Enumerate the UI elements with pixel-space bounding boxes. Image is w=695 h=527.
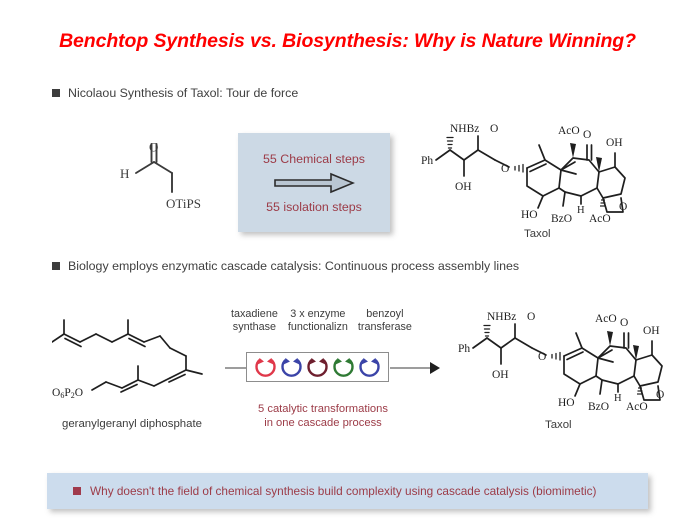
right-arrow-icon xyxy=(273,172,355,194)
atom-label-oh-sidechain: OH xyxy=(455,181,472,193)
glycolaldehyde-skeletal-diagram: H O OTiPS xyxy=(112,140,222,225)
cycle-arrow-1-icon xyxy=(253,355,278,379)
cycle-arrow-5-icon xyxy=(357,355,382,379)
cascade-caption-line-1: 5 catalytic transformations xyxy=(243,402,403,416)
atom-label-phosphate: O6P2O xyxy=(52,387,83,400)
atom-label-aco-top: AcO xyxy=(558,125,580,137)
atom-label-o-oxetane: O xyxy=(656,389,664,401)
bullet-nicolaou-synthesis: Nicolaou Synthesis of Taxol: Tour de for… xyxy=(52,86,298,100)
ggpp-skeletal-diagram: O6P2O xyxy=(52,312,232,417)
atom-label-o-ketone: O xyxy=(583,129,591,141)
square-bullet-icon xyxy=(52,89,60,97)
cascade-catalysis-box xyxy=(246,352,389,382)
atom-label-oh-sidechain: OH xyxy=(492,369,509,381)
structure-taxol-top: Ph NHBz O OH O AcO O OH HO BzO AcO H O xyxy=(403,112,628,232)
cycle-arrow-3-icon xyxy=(305,355,330,379)
atom-label-o: O xyxy=(149,140,158,155)
atom-label-h-stereo: H xyxy=(614,393,622,404)
atom-label-h-stereo: H xyxy=(577,205,585,216)
atom-label-ph: Ph xyxy=(421,155,433,167)
atom-label-nhbz: NHBz xyxy=(487,311,516,323)
structure-ggpp: O6P2O xyxy=(52,312,232,417)
square-bullet-icon xyxy=(73,487,81,495)
atom-label-o-ester: O xyxy=(527,311,535,323)
atom-label-bzo: BzO xyxy=(551,213,572,225)
atom-label-oh-top: OH xyxy=(643,325,660,337)
taxol-skeletal-diagram: Ph NHBz O OH O AcO O OH HO BzO AcO H O xyxy=(440,300,665,420)
ggpp-caption: geranylgeranyl diphosphate xyxy=(62,418,202,430)
atom-label-o-oxetane: O xyxy=(619,201,627,213)
atom-label-oh-top: OH xyxy=(606,137,623,149)
conclusion-text: Why doesn't the field of chemical synthe… xyxy=(90,484,596,498)
cycle-arrow-2-icon xyxy=(279,355,304,379)
atom-label-o-ketone: O xyxy=(620,317,628,329)
enzyme-label-benzoyl-transferase: benzoyl transferase xyxy=(358,308,412,333)
structure-starting-material: H O OTiPS xyxy=(112,140,222,225)
enzyme-label-taxadiene-synthase: taxadiene synthase xyxy=(231,308,278,333)
atom-label-o-link: O xyxy=(538,351,546,363)
square-bullet-icon xyxy=(52,262,60,270)
atom-label-aco-bottom: AcO xyxy=(589,213,611,225)
atom-label-bzo: BzO xyxy=(588,401,609,413)
enzyme-label-functionalization: 3 x enzyme functionalizn xyxy=(288,308,348,333)
chemical-steps-box: 55 Chemical steps 55 isolation steps xyxy=(238,133,390,232)
slide-canvas: Benchtop Synthesis vs. Biosynthesis: Why… xyxy=(0,0,695,527)
atom-label-aco-bottom: AcO xyxy=(626,401,648,413)
bullet-label: Biology employs enzymatic cascade cataly… xyxy=(68,259,519,273)
atom-label-ho: HO xyxy=(558,397,575,409)
atom-label-ho: HO xyxy=(521,209,538,221)
page-title: Benchtop Synthesis vs. Biosynthesis: Why… xyxy=(0,30,695,53)
atom-label-h: H xyxy=(120,166,129,181)
atom-label-o-link: O xyxy=(501,163,509,175)
structure-taxol-bottom: Ph NHBz O OH O AcO O OH HO BzO AcO H O xyxy=(440,300,665,420)
atom-label-otips: OTiPS xyxy=(166,196,201,211)
taxol-skeletal-diagram: Ph NHBz O OH O AcO O OH HO BzO AcO H O xyxy=(403,112,628,232)
chemical-steps-label: 55 Chemical steps xyxy=(263,152,365,166)
conclusion-banner: Why doesn't the field of chemical synthe… xyxy=(47,473,648,509)
taxol-caption-top: Taxol xyxy=(524,228,551,240)
cycle-arrow-4-icon xyxy=(331,355,356,379)
isolation-steps-label: 55 isolation steps xyxy=(266,200,362,214)
taxol-caption-bottom: Taxol xyxy=(545,419,572,431)
atom-label-ph: Ph xyxy=(458,343,470,355)
enzyme-label-group: taxadiene synthase 3 x enzyme functional… xyxy=(231,308,412,333)
atom-label-nhbz: NHBz xyxy=(450,123,479,135)
bullet-biology-cascade: Biology employs enzymatic cascade cataly… xyxy=(52,259,519,273)
atom-label-aco-top: AcO xyxy=(595,313,617,325)
cascade-caption: 5 catalytic transformations in one casca… xyxy=(243,402,403,430)
bullet-label: Nicolaou Synthesis of Taxol: Tour de for… xyxy=(68,86,298,100)
atom-label-o-ester: O xyxy=(490,123,498,135)
cascade-caption-line-2: in one cascade process xyxy=(243,416,403,430)
